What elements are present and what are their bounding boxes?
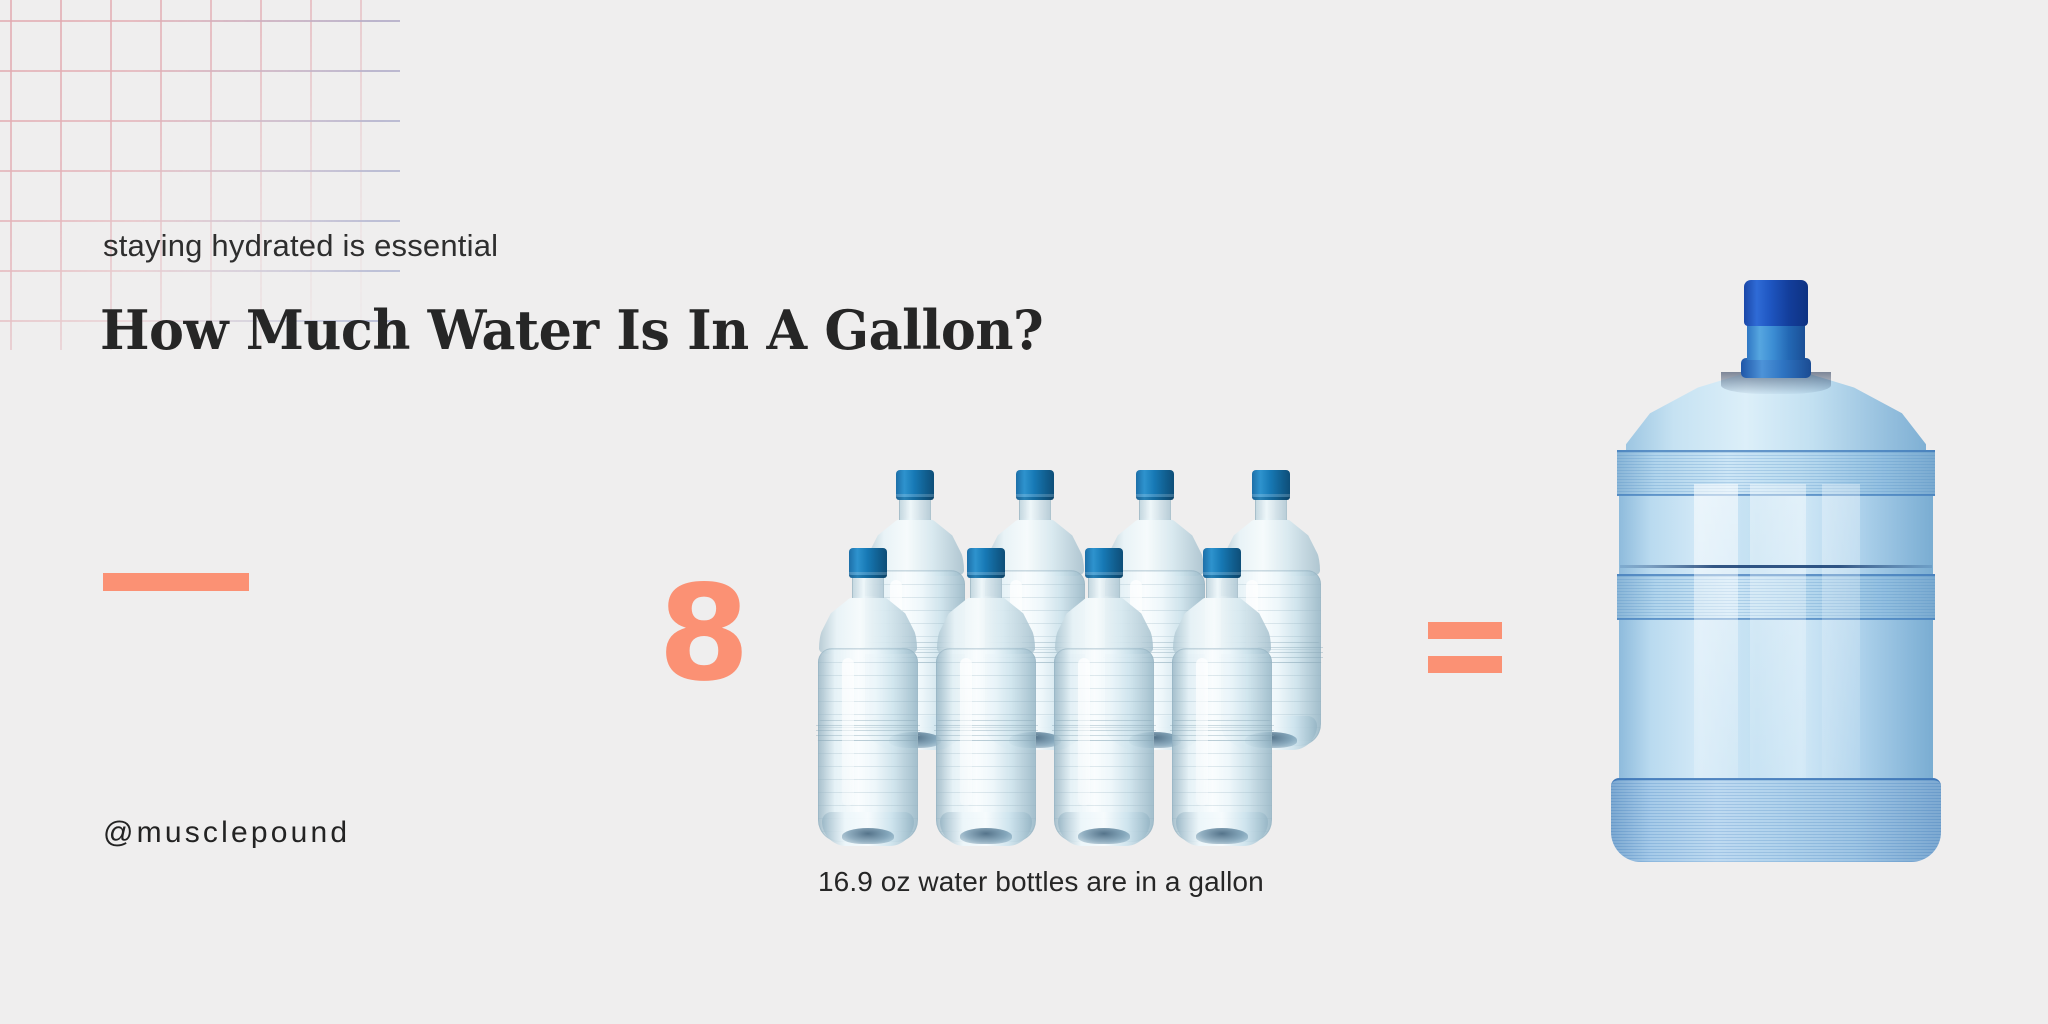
bottle-shoulder	[937, 596, 1035, 654]
infographic-canvas: staying hydrated is essential How Much W…	[0, 0, 2048, 1024]
bottle-highlight	[1078, 658, 1090, 806]
bottle-highlight	[1196, 658, 1208, 806]
equation-caption: 16.9 oz water bottles are in a gallon	[818, 866, 1264, 898]
bottle-cap-icon	[849, 548, 887, 578]
bottle-shoulder	[1173, 596, 1271, 654]
jug-cap-icon	[1744, 280, 1808, 326]
bottle-neck	[852, 576, 884, 598]
bottle-highlight	[842, 658, 854, 806]
bottle-waist	[1052, 720, 1156, 742]
equals-sign-icon	[1428, 622, 1502, 673]
bottle-base	[1176, 812, 1268, 846]
bottle-waist	[816, 720, 920, 742]
bottle-neck	[1255, 498, 1287, 520]
equals-gap	[1428, 639, 1502, 656]
water-bottle-icon	[1049, 548, 1159, 846]
bottle-neck	[1088, 576, 1120, 598]
jug-cap-band	[1747, 322, 1805, 360]
bottle-waist	[934, 720, 1038, 742]
bottle-waist	[1170, 720, 1274, 742]
water-jug-icon	[1608, 280, 1944, 862]
horizontal-rule-icon	[103, 573, 249, 591]
bottle-cap-icon	[896, 470, 934, 500]
jug-collar	[1741, 358, 1811, 378]
water-bottle-cluster	[815, 470, 1335, 860]
jug-lower-barrel	[1619, 612, 1933, 788]
water-bottle-icon	[1167, 548, 1277, 846]
bottle-cap-icon	[967, 548, 1005, 578]
bottle-shoulder	[1055, 596, 1153, 654]
water-bottle-icon	[813, 548, 923, 846]
jug-waterline-upper	[1620, 565, 1932, 568]
bottle-highlight	[960, 658, 972, 806]
bottle-neck	[970, 576, 1002, 598]
bottle-shoulder	[819, 596, 917, 654]
bottle-cap-icon	[1136, 470, 1174, 500]
bottle-neck	[1139, 498, 1171, 520]
bottle-neck	[899, 498, 931, 520]
page-title: How Much Water Is In A Gallon?	[100, 298, 1043, 362]
bottle-base	[940, 812, 1032, 846]
equals-bar-top	[1428, 622, 1502, 639]
bottle-neck	[1206, 576, 1238, 598]
jug-ribbed-ring-lower	[1617, 574, 1935, 620]
jug-ribbed-ring-upper	[1617, 450, 1935, 496]
bottle-cap-icon	[1203, 548, 1241, 578]
bottle-cap-icon	[1016, 470, 1054, 500]
eyebrow-text: staying hydrated is essential	[103, 228, 498, 264]
bottle-cap-icon	[1085, 548, 1123, 578]
bottle-base	[822, 812, 914, 846]
bottle-base	[1058, 812, 1150, 846]
bottle-count-number: 8	[648, 568, 758, 700]
water-bottle-icon	[931, 548, 1041, 846]
equals-bar-bottom	[1428, 656, 1502, 673]
bottle-cap-icon	[1252, 470, 1290, 500]
jug-base	[1611, 778, 1941, 862]
bottle-neck	[1019, 498, 1051, 520]
social-handle: @musclepound	[103, 816, 350, 850]
